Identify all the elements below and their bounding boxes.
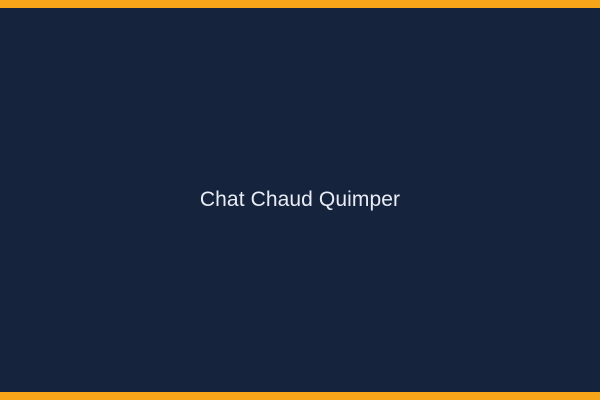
placeholder-card: Chat Chaud Quimper xyxy=(0,0,600,400)
page-title: Chat Chaud Quimper xyxy=(200,187,400,213)
top-accent-bar xyxy=(0,0,600,8)
bottom-accent-bar xyxy=(0,392,600,400)
card-body: Chat Chaud Quimper xyxy=(0,8,600,392)
